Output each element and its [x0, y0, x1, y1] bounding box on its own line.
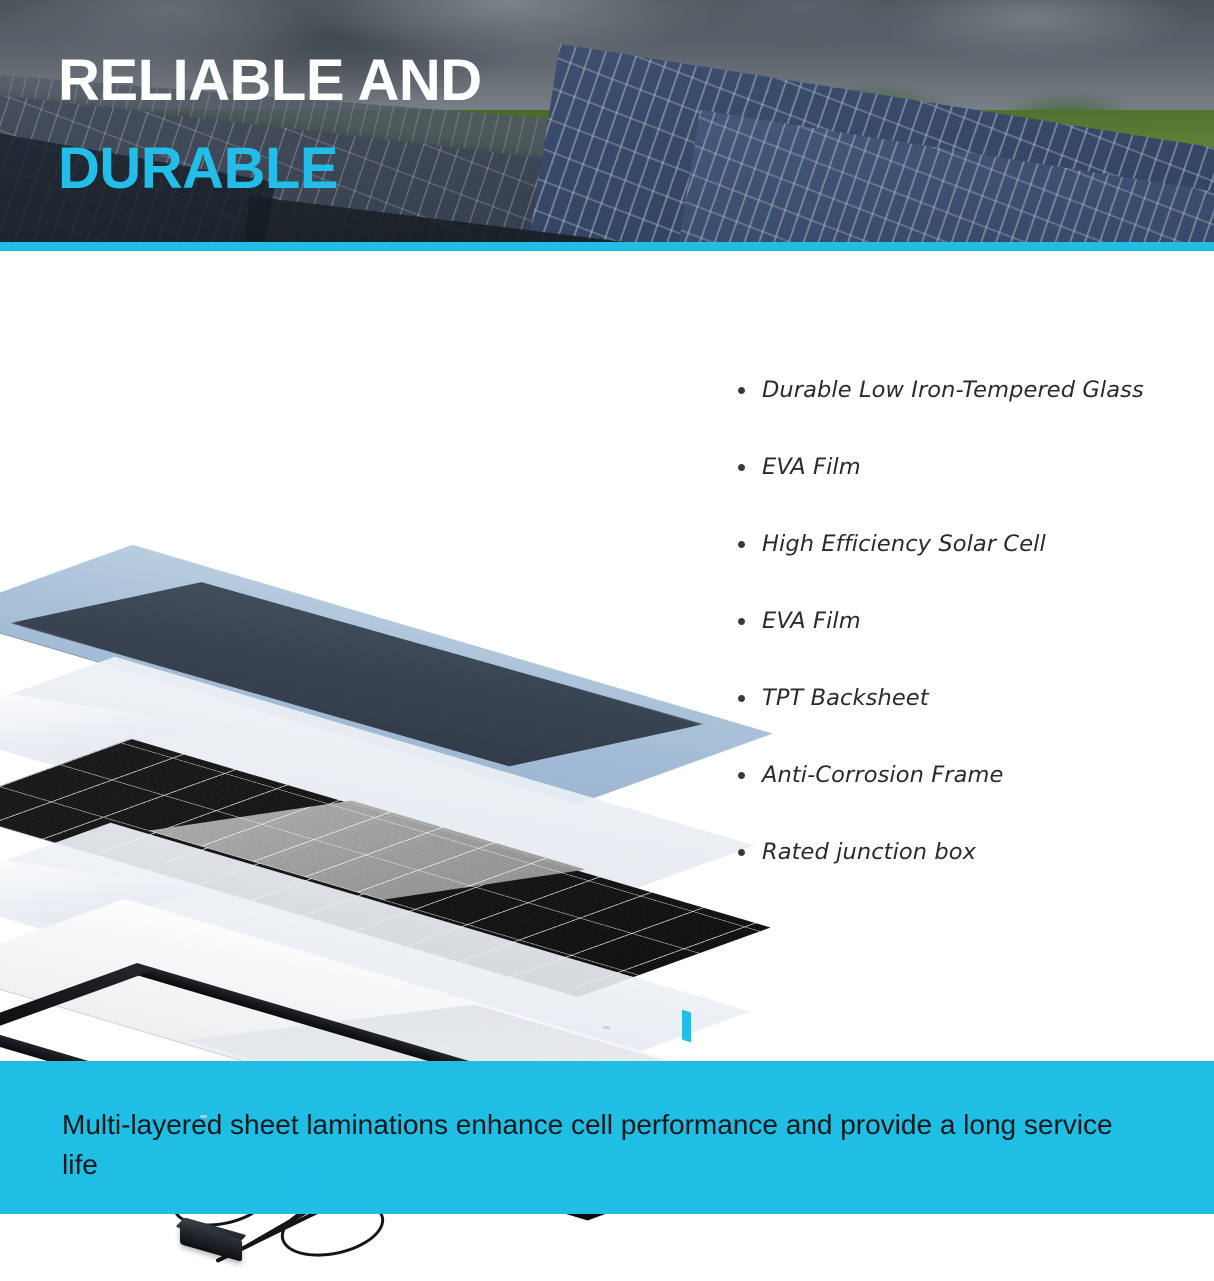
layer-label-solar-cell: High Efficiency Solar Cell	[762, 531, 1046, 557]
bullet-icon	[738, 695, 745, 702]
main-content: Durable Low Iron-Tempered Glass EVA Film…	[0, 251, 1214, 1061]
list-item: TPT Backsheet	[738, 685, 929, 711]
layer-label-frame: Anti-Corrosion Frame	[762, 762, 1003, 788]
hero-banner: RELIABLE AND DURABLE	[0, 0, 1214, 242]
list-item: EVA Film	[738, 608, 861, 634]
bullet-icon	[738, 849, 745, 856]
layer-label-eva-top: EVA Film	[762, 454, 861, 480]
bullet-icon	[738, 387, 745, 394]
bullet-icon	[738, 618, 745, 625]
list-item: Anti-Corrosion Frame	[738, 762, 1003, 788]
frame-mounting-hole-1	[200, 1115, 207, 1118]
frame-mounting-hole-2	[603, 1026, 610, 1029]
hero-title: RELIABLE AND DURABLE	[58, 52, 482, 198]
hero-accent-rule	[0, 242, 1214, 251]
list-item: Rated junction box	[738, 839, 976, 865]
layer-label-glass: Durable Low Iron-Tempered Glass	[762, 377, 1144, 403]
list-item: Durable Low Iron-Tempered Glass	[738, 377, 1144, 403]
frame-corner-accent-left	[52, 1111, 61, 1144]
layer-label-backsheet: TPT Backsheet	[762, 685, 929, 711]
hero-title-line2: DURABLE	[58, 140, 482, 198]
layer-label-junction-box: Rated junction box	[762, 839, 976, 865]
list-item: High Efficiency Solar Cell	[738, 531, 1046, 557]
layer-label-eva-bottom: EVA Film	[762, 608, 861, 634]
frame-corner-accent-front	[305, 1166, 314, 1199]
bullet-icon	[738, 541, 745, 548]
hero-title-line1: RELIABLE AND	[58, 52, 482, 110]
product-feature-page: RELIABLE AND DURABLE	[0, 0, 1214, 1214]
footer-banner: Multi-layered sheet laminations enhance …	[0, 1061, 1214, 1214]
list-item: EVA Film	[738, 454, 861, 480]
exploded-panel-diagram	[0, 251, 740, 1061]
footer-caption: Multi-layered sheet laminations enhance …	[62, 1105, 1152, 1185]
bullet-icon	[738, 464, 745, 471]
frame-corner-accent-right	[682, 1010, 691, 1043]
bullet-icon	[738, 772, 745, 779]
layer-label-list: Durable Low Iron-Tempered Glass EVA Film…	[738, 251, 1214, 1061]
